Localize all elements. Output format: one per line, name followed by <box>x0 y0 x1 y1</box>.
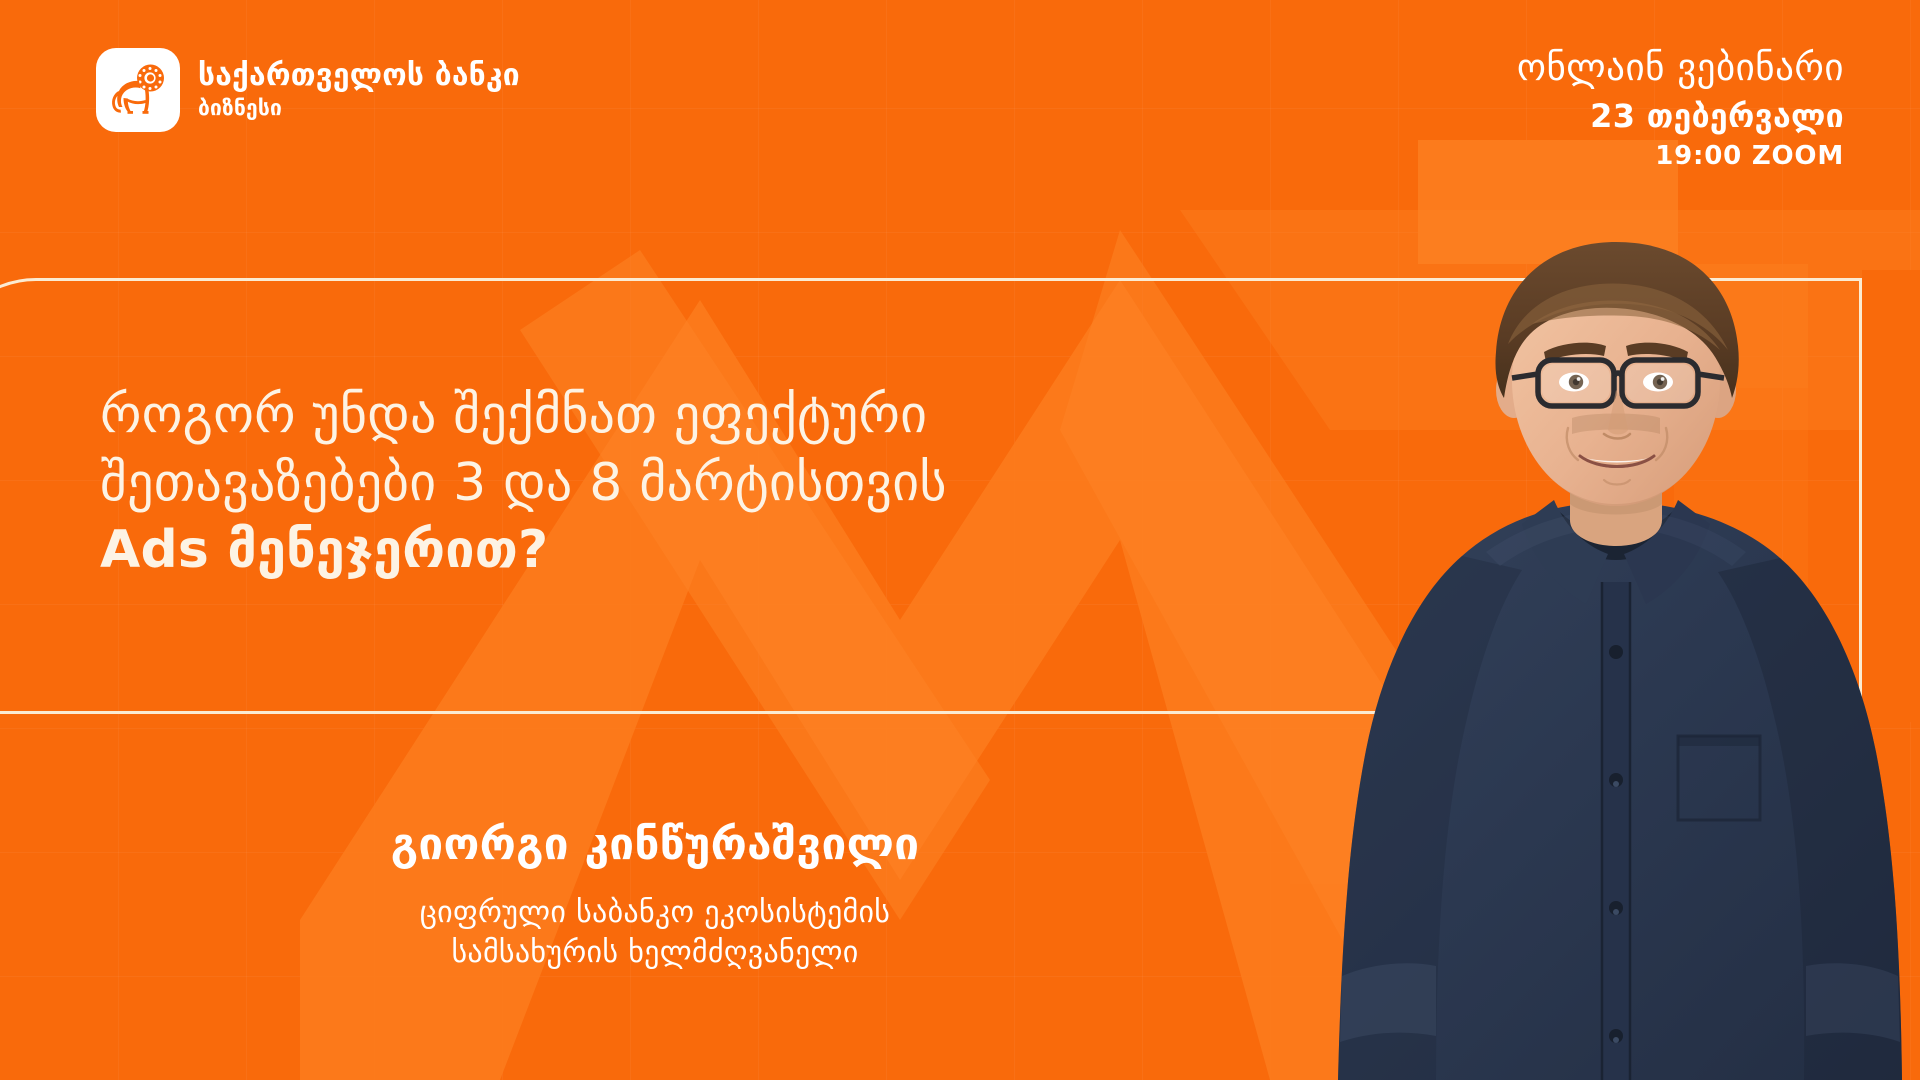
brand-name: საქართველოს ბანკი <box>198 61 520 91</box>
speaker-role: ციფრული საბანკო ეკოსისტემის სამსახურის ხ… <box>0 893 1310 973</box>
brand-subname: ბიზნესი <box>198 98 520 119</box>
headline-line-2: შეთავაზებები 3 და 8 მარტისთვის <box>100 450 1330 518</box>
frame-right-edge <box>1859 278 1862 714</box>
event-meta: ონლაინ ვებინარი 23 თებერვალი 19:00 ZOOM <box>1517 46 1844 172</box>
speaker-role-line-1: ციფრული საბანკო ეკოსისტემის <box>0 893 1310 933</box>
event-date-label: 23 თებერვალი <box>1517 98 1844 136</box>
headline: როგორ უნდა შექმნათ ეფექტური შეთავაზებები… <box>100 382 1330 585</box>
headline-line-1: როგორ უნდა შექმნათ ეფექტური <box>100 382 1330 450</box>
speaker-role-line-2: სამსახურის ხელმძღვანელი <box>0 933 1310 973</box>
event-type-label: ონლაინ ვებინარი <box>1517 46 1844 90</box>
speaker-block: გიორგი კინწურაშვილი ციფრული საბანკო ეკოს… <box>0 820 1310 973</box>
brand-logo: საქართველოს ბანკი ბიზნესი <box>96 48 520 132</box>
headline-line-3: Ads მენეჯერით? <box>100 517 1330 585</box>
frame-right-mask <box>1862 270 1920 722</box>
brand-logo-text: საქართველოს ბანკი ბიზნესი <box>198 61 520 119</box>
webinar-promo-banner: საქართველოს ბანკი ბიზნესი ონლაინ ვებინარ… <box>0 0 1920 1080</box>
lion-mark-icon <box>96 48 180 132</box>
event-time-platform-label: 19:00 ZOOM <box>1517 141 1844 172</box>
speaker-name: გიორგი კინწურაშვილი <box>0 820 1310 871</box>
